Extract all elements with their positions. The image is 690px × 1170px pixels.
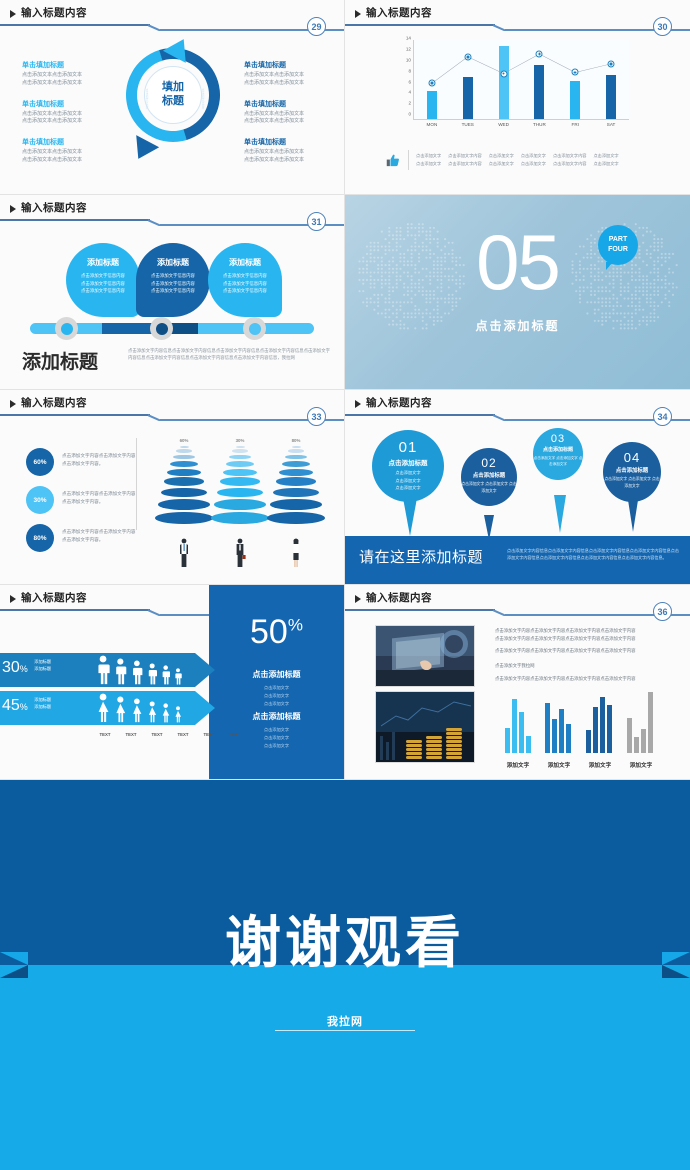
bottom-band: 请在这里添加标题 点击添加文字内容信息点击添加文字内容信息点击添加文字内容信息点…	[345, 536, 690, 584]
pin-card[interactable]: 02 点击添加标题 点击添加文字 点击添加文字 点击添加文字	[461, 448, 517, 506]
combo-chart: 02468101214MONTUESWEDTHURFRISAT	[385, 40, 635, 138]
funnel-segment	[220, 477, 260, 486]
bar-text-label: TEXT	[224, 732, 246, 737]
pin-number: 02	[461, 456, 517, 470]
funnel-segment	[167, 469, 201, 476]
chart-bar	[566, 724, 571, 753]
funnel-segment	[158, 499, 210, 510]
header-rule-right	[160, 614, 209, 616]
item-title: 单击填加标题	[244, 137, 339, 147]
section-subtitle: 点击添加标题	[345, 317, 690, 334]
paragraph: 点击添加文字内容点击添加文字内容点击添加文字内容点击添加文字内容	[495, 675, 676, 683]
header-rule	[345, 609, 495, 611]
legend-item: 点击添加文字	[416, 152, 441, 160]
play-triangle-icon	[10, 595, 16, 603]
page-number-badge: 33	[307, 407, 326, 426]
funnel-segment	[229, 455, 250, 460]
header-rule	[0, 24, 150, 26]
people-row-female	[96, 693, 182, 723]
y-tick-label: 2	[408, 101, 411, 106]
y-tick-label: 8	[408, 68, 411, 73]
y-tick-label: 12	[406, 47, 411, 52]
slide-deck: 输入标题内容 29 填加 标题 点击添加文字内容 点击添加文字内容 单击填加标题…	[0, 0, 690, 1170]
person-female-icon	[131, 698, 143, 723]
page-number-badge: 31	[307, 212, 326, 231]
slide-36[interactable]: 输入标题内容 36	[345, 585, 690, 780]
cycle-label-left: 点击添加文字内容	[144, 88, 148, 109]
person-male-icon	[131, 660, 143, 685]
bar-text-label: TEXT	[94, 732, 116, 737]
x-tick-label: MON	[427, 122, 438, 127]
play-triangle-icon	[10, 205, 16, 213]
bar-group-label: 添加文字	[502, 761, 534, 769]
bar-text-label: TEXT	[198, 732, 220, 737]
slide-33[interactable]: 输入标题内容 33 60% 点击添加文字内容点击添加文字内容点击添加文字内容。 …	[0, 390, 345, 585]
person-female-icon	[161, 703, 170, 723]
slide-31[interactable]: 输入标题内容 31 添加标题 点击添加文字信息内容 点击添加文字信息内容 点击添…	[0, 195, 345, 390]
percent-badge: 60%	[26, 448, 54, 476]
item-title: 单击填加标题	[22, 99, 117, 109]
item-body: 点击添加文本点击添加文本 点击添加文本点击添加文本	[22, 149, 117, 165]
legend-item: 点击添加文字内容	[553, 160, 587, 168]
funnel-segment	[270, 499, 322, 510]
line-marker	[428, 80, 435, 87]
chart-bar	[505, 728, 510, 753]
funnel-segment	[282, 461, 310, 467]
slide-header: 输入标题内容	[345, 0, 690, 30]
part-badge: PART FOUR	[598, 225, 638, 265]
funnel-segment	[161, 488, 207, 498]
item-body: 点击添加文本点击添加文本 点击添加文本点击添加文本	[244, 149, 339, 165]
cycle-label-right: 点击添加文字内容	[200, 88, 204, 109]
timeline-node[interactable]	[243, 317, 266, 340]
header-rule	[345, 414, 495, 416]
person-female-icon	[114, 696, 127, 723]
part-badge-line1: PART	[598, 235, 638, 245]
line-marker	[500, 70, 507, 77]
header-rule	[0, 219, 150, 221]
percent-badge: 30%	[26, 486, 54, 514]
panel-body-1: 点击添加文字 点击添加文字 点击添加文字	[209, 684, 344, 708]
funnel-percent: 60%	[180, 438, 189, 443]
funnel-segment	[214, 499, 266, 510]
legend-item: 点击添加文字	[489, 160, 514, 168]
header-rule	[345, 24, 495, 26]
pin-body: 点击添加文字 点击添加文字 点击添加文字	[603, 476, 661, 490]
photo-touchscreen[interactable]	[375, 625, 475, 687]
chart-bar	[600, 697, 605, 753]
chart-bar	[648, 692, 653, 753]
list-item[interactable]: 单击填加标题 点击添加文本点击添加文本 点击添加文本点击添加文本	[244, 60, 339, 88]
funnel-segment	[273, 488, 319, 498]
funnel-segment	[217, 488, 263, 498]
panel-heading-2: 点击添加标题	[209, 711, 344, 722]
chart-bar	[634, 737, 639, 753]
slide-header-title: 输入标题内容	[21, 5, 87, 20]
slide-30[interactable]: 输入标题内容 30 02468101214MONTUESWEDTHURFRISA…	[345, 0, 690, 195]
percent-sub: 添加标题添加标题	[34, 697, 51, 710]
slide-header: 输入标题内容	[0, 0, 344, 30]
funnel-segment	[211, 512, 270, 524]
bar-group-label: 添加文字	[584, 761, 616, 769]
page-number-badge: 29	[307, 17, 326, 36]
pin-number: 03	[533, 433, 583, 445]
people-row-male	[96, 655, 182, 685]
legend-item: 点击添加文字内容	[553, 152, 587, 160]
pin-card[interactable]: 03 点击添加标题 点击添加文字 点击添加文字 点击添加文字	[533, 428, 583, 480]
legend-item: 点击添加文字	[593, 160, 618, 168]
funnel-segment	[226, 461, 254, 467]
chart-bar	[607, 705, 612, 753]
play-triangle-icon	[355, 10, 361, 18]
play-triangle-icon	[355, 400, 361, 408]
slide-header-title: 输入标题内容	[21, 590, 87, 605]
y-tick-label: 0	[408, 112, 411, 117]
pin-stem	[628, 500, 638, 532]
line-marker	[536, 51, 543, 58]
item-title: 单击填加标题	[244, 60, 339, 70]
percent-label: 30% 添加标题添加标题	[2, 659, 51, 677]
y-tick-label: 10	[406, 57, 411, 62]
pin-title: 点击添加标题	[533, 446, 583, 453]
funnel-segment	[173, 455, 194, 460]
slide-35[interactable]: 输入标题内容 50% 点击添加标题 点击添加文字 点击添加文字 点击添加文字 点…	[0, 585, 345, 780]
funnel-percent: 80%	[292, 438, 301, 443]
list-item[interactable]: 单击填加标题 点击添加文本点击添加文本 点击添加文本点击添加文本	[244, 99, 339, 127]
final-title: 谢谢观看	[0, 898, 690, 979]
pin-number: 04	[603, 450, 661, 465]
legend-item: 点击添加文字	[416, 160, 441, 168]
bubble-body: 点击添加文字信息内容 点击添加文字信息内容 点击添加文字信息内容	[136, 272, 210, 295]
chart-bar	[519, 712, 524, 753]
bar-group	[545, 691, 571, 753]
item-title: 单击填加标题	[22, 60, 117, 70]
person-female-icon	[290, 538, 302, 568]
slide-header: 输入标题内容	[345, 585, 690, 615]
legend-rows: 点击添加文字点击添加文字内容点击添加文字点击添加文字点击添加文字内容点击添加文字…	[416, 152, 674, 168]
funnel-segment	[232, 449, 247, 453]
funnel-segment	[236, 446, 245, 448]
chart-bar	[627, 718, 632, 753]
chart-plot-area: 02468101214MONTUESWEDTHURFRISAT	[413, 40, 629, 120]
person-male-icon	[96, 655, 110, 685]
funnel-segment	[279, 469, 313, 476]
y-tick-label: 6	[408, 79, 411, 84]
pin-number: 01	[372, 439, 444, 456]
bar-text-label: TEXT	[146, 732, 168, 737]
timeline-node[interactable]	[150, 317, 173, 340]
chart-legend: 点击添加文字点击添加文字内容点击添加文字点击添加文字点击添加文字内容点击添加文字…	[385, 150, 674, 170]
slide-header-title: 输入标题内容	[366, 395, 432, 410]
bubble-body: 点击添加文字信息内容 点击添加文字信息内容 点击添加文字信息内容	[66, 272, 140, 295]
pin-stem	[554, 495, 566, 533]
line-marker	[608, 60, 615, 67]
bubble-title: 添加标题	[136, 257, 210, 268]
band-body: 点击添加文字内容信息点击添加文字内容信息点击添加文字内容信息点击添加文字内容信息…	[507, 548, 680, 562]
percent-sub: 添加标题添加标题	[34, 659, 51, 672]
cycle-arrow-down-icon	[127, 135, 159, 165]
pin-title: 点击添加标题	[461, 471, 517, 479]
bar-group	[586, 691, 612, 753]
right-panel: 50% 点击添加标题 点击添加文字 点击添加文字 点击添加文字 点击添加标题 点…	[209, 585, 344, 779]
slide-header: 输入标题内容	[345, 390, 690, 420]
person-suit-icon	[234, 538, 246, 568]
percent-body: 点击添加文字内容点击添加文字内容点击添加文字内容。	[62, 452, 140, 468]
header-rule	[0, 609, 150, 611]
chart-bar	[552, 719, 557, 753]
y-tick-label: 14	[406, 36, 411, 41]
legend-item: 点击添加文字	[593, 152, 618, 160]
photo-coins-chart[interactable]	[375, 691, 475, 763]
funnel-segment	[292, 446, 301, 448]
slide-34[interactable]: 输入标题内容 34 01 点击添加标题 点击添加文字 点击添加文字 点击添加文字…	[345, 390, 690, 585]
person-female-icon	[174, 706, 182, 723]
pin-title: 点击添加标题	[372, 457, 444, 467]
pin-card[interactable]: 01 点击添加标题 点击添加文字 点击添加文字 点击添加文字	[372, 430, 444, 502]
list-item[interactable]: 单击填加标题 点击添加文本点击添加文本 点击添加文本点击添加文本	[22, 137, 117, 165]
person-male-icon	[114, 658, 127, 685]
item-body: 点击添加文本点击添加文本 点击添加文本点击添加文本	[22, 111, 117, 127]
percent-label: 45% 添加标题添加标题	[2, 697, 51, 715]
legend-item: 点击添加文字	[521, 160, 546, 168]
bar-group-label: 添加文字	[625, 761, 657, 769]
funnel-segment	[285, 455, 306, 460]
legend-item: 点击添加文字内容	[448, 152, 482, 160]
chart-bar	[641, 729, 646, 753]
funnel-segment	[223, 469, 257, 476]
slide-section-05[interactable]: 05 点击添加标题 PART FOUR	[345, 195, 690, 390]
cycle-right-items: 单击填加标题 点击添加文本点击添加文本 点击添加文本点击添加文本 单击填加标题 …	[244, 60, 339, 176]
chart-bar	[559, 709, 564, 753]
final-bottom-band	[0, 965, 690, 1170]
funnel-segment	[170, 461, 198, 467]
slide-big-title: 添加标题	[22, 347, 98, 374]
timeline-node[interactable]	[55, 317, 78, 340]
pin-body: 点击添加文字 点击添加文字 点击添加文字	[372, 469, 444, 492]
item-title: 单击填加标题	[244, 99, 339, 109]
funnel-segment	[276, 477, 316, 486]
page-number-badge: 34	[653, 407, 672, 426]
page-number-badge: 36	[653, 602, 672, 621]
chart-bar	[593, 707, 598, 753]
slide-header-title: 输入标题内容	[21, 395, 87, 410]
slide-big-body: 点击添加文字内容信息点击添加文字内容信息点击添加文字内容信息点击添加文字内容信息…	[128, 347, 330, 362]
bar-group	[627, 691, 653, 753]
slide-header-title: 输入标题内容	[366, 5, 432, 20]
cycle-diagram: 填加 标题 点击添加文字内容 点击添加文字内容	[118, 32, 230, 184]
y-tick-label: 4	[408, 90, 411, 95]
percent-value: 30%	[2, 659, 28, 676]
text-labels-row: TEXTTEXTTEXTTEXTTEXTTEXT	[94, 732, 246, 737]
part-badge-line2: FOUR	[598, 245, 638, 255]
funnel-column: 80%	[262, 438, 330, 524]
timeline-bubble[interactable]: 添加标题 点击添加文字信息内容 点击添加文字信息内容 点击添加文字信息内容	[136, 243, 210, 317]
paragraph: 点击添加文字我拉网	[495, 662, 676, 670]
panel-heading-1: 点击添加标题	[209, 669, 344, 680]
funnel-segment	[180, 446, 189, 448]
final-slide[interactable]: 谢谢观看 我拉网	[0, 780, 690, 1170]
pin-card[interactable]: 04 点击添加标题 点击添加文字 点击添加文字 点击添加文字	[603, 442, 661, 502]
legend-item: 点击添加文字	[489, 152, 514, 160]
bar-group-label: 添加文字	[543, 761, 575, 769]
cycle-center-line1: 填加	[162, 81, 184, 95]
paragraph: 点击添加文字内容点击添加文字内容点击添加文字内容点击添加文字内容 点击添加文字内…	[495, 627, 676, 642]
pin-body: 点击添加文字 点击添加文字 点击添加文字	[461, 481, 517, 495]
panel-number-value: 50	[250, 613, 288, 651]
line-marker	[572, 69, 579, 76]
panel-big-number: 50%	[209, 613, 344, 652]
page-number-badge: 30	[653, 17, 672, 36]
percent-body: 点击添加文字内容点击添加文字内容点击添加文字内容。	[62, 528, 140, 544]
funnel-segment	[155, 512, 214, 524]
pin-title: 点击添加标题	[603, 466, 661, 474]
legend-item: 点击添加文字	[521, 152, 546, 160]
person-male-icon	[161, 665, 170, 685]
item-body: 点击添加文本点击添加文本 点击添加文本点击添加文本	[22, 72, 117, 88]
chart-bar	[526, 736, 531, 753]
person-female-icon	[147, 701, 157, 723]
timeline-bubble[interactable]: 添加标题 点击添加文字信息内容 点击添加文字信息内容 点击添加文字信息内容	[208, 243, 282, 317]
pin-body: 点击添加文字 点击添加文字 点击添加文字	[533, 455, 583, 468]
panel-body-2: 点击添加文字 点击添加文字 点击添加文字	[209, 726, 344, 750]
legend-divider	[408, 150, 409, 170]
item-body: 点击添加文本点击添加文本 点击添加文本点击添加文本	[244, 111, 339, 127]
chart-bar	[545, 703, 550, 753]
play-triangle-icon	[10, 400, 16, 408]
legend-row: 点击添加文字点击添加文字内容点击添加文字点击添加文字点击添加文字内容点击添加文字	[416, 160, 674, 168]
slide-header-title: 输入标题内容	[366, 590, 432, 605]
bubble-title: 添加标题	[208, 257, 282, 268]
bar-group	[505, 691, 531, 753]
item-title: 单击填加标题	[22, 137, 117, 147]
list-item[interactable]: 单击填加标题 点击添加文本点击添加文本 点击添加文本点击添加文本	[244, 137, 339, 165]
bar-text-label: TEXT	[172, 732, 194, 737]
thumbs-up-icon	[385, 153, 401, 168]
chart-bar	[512, 699, 517, 753]
slide-grid: 输入标题内容 29 填加 标题 点击添加文字内容 点击添加文字内容 单击填加标题…	[0, 0, 690, 780]
panel-number-unit: %	[288, 616, 303, 635]
line-marker	[464, 53, 471, 60]
section-number: 05	[345, 225, 690, 299]
percent-value: 45%	[2, 697, 28, 714]
funnel-segment	[164, 477, 204, 486]
person-male-icon	[178, 538, 190, 568]
slide-header: 输入标题内容	[0, 195, 344, 225]
slide-header: 输入标题内容	[0, 390, 344, 420]
x-tick-label: TUES	[462, 122, 474, 127]
cycle-center: 填加 标题	[144, 66, 202, 124]
chart-bar	[586, 730, 591, 753]
list-item[interactable]: 单击填加标题 点击添加文本点击添加文本 点击添加文本点击添加文本	[22, 60, 117, 88]
paragraph: 点击添加文字内容点击添加文字内容点击添加文字内容点击添加文字内容	[495, 647, 676, 655]
x-tick-label: THUR	[533, 122, 546, 127]
x-tick-label: FRI	[572, 122, 579, 127]
x-tick-label: SAT	[607, 122, 616, 127]
percent-badge: 80%	[26, 524, 54, 552]
person-male-icon	[147, 663, 157, 685]
percent-body: 点击添加文字内容点击添加文字内容点击添加文字内容。	[62, 490, 140, 506]
slide-29[interactable]: 输入标题内容 29 填加 标题 点击添加文字内容 点击添加文字内容 单击填加标题…	[0, 0, 345, 195]
funnel-segment	[176, 449, 191, 453]
list-item[interactable]: 单击填加标题 点击添加文本点击添加文本 点击添加文本点击添加文本	[22, 99, 117, 127]
play-triangle-icon	[10, 10, 16, 18]
bubble-body: 点击添加文字信息内容 点击添加文字信息内容 点击添加文字信息内容	[208, 272, 282, 295]
slide-header-title: 输入标题内容	[21, 200, 87, 215]
legend-row: 点击添加文字点击添加文字内容点击添加文字点击添加文字点击添加文字内容点击添加文字	[416, 152, 674, 160]
pin-stem	[403, 498, 417, 536]
final-subtitle: 我拉网	[0, 1013, 690, 1029]
funnel-segment	[267, 512, 326, 524]
x-tick-label: WED	[498, 122, 509, 127]
person-male-icon	[174, 668, 182, 685]
bubble-title: 添加标题	[66, 257, 140, 268]
item-body: 点击添加文本点击添加文本 点击添加文本点击添加文本	[244, 72, 339, 88]
person-female-icon	[96, 693, 110, 723]
funnel-segment	[288, 449, 303, 453]
legend-item: 点击添加文字内容	[448, 160, 482, 168]
vertical-divider	[136, 438, 137, 530]
final-underline	[275, 1030, 415, 1031]
cycle-left-items: 单击填加标题 点击添加文本点击添加文本 点击添加文本点击添加文本 单击填加标题 …	[22, 60, 117, 176]
line-series	[414, 40, 629, 119]
bar-text-label: TEXT	[120, 732, 142, 737]
band-title: 请在这里添加标题	[359, 546, 483, 567]
funnel-percent: 30%	[236, 438, 245, 443]
header-rule	[0, 414, 150, 416]
cycle-center-line2: 标题	[162, 95, 184, 109]
play-triangle-icon	[355, 595, 361, 603]
timeline-bubble[interactable]: 添加标题 点击添加文字信息内容 点击添加文字信息内容 点击添加文字信息内容	[66, 243, 140, 317]
